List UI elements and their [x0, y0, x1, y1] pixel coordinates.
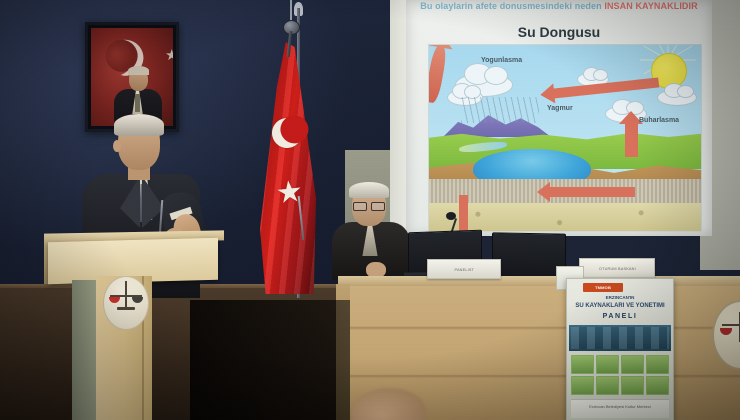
speaker-ear — [113, 140, 121, 152]
nameplate-right: OTURUM BASKANI — [579, 258, 655, 278]
eyeglasses-icon — [353, 202, 385, 209]
cloud-icon — [657, 89, 697, 106]
ceiling-microphone-wire — [290, 0, 292, 22]
poster-sponsor-tile — [621, 376, 644, 395]
arrow-precipitation — [428, 44, 448, 104]
speaker-hair — [114, 114, 164, 136]
nameplate-left-text: PANELIST — [454, 267, 474, 272]
panelist-hair — [349, 182, 389, 198]
label-condensation: Yogunlasma — [481, 57, 522, 64]
scales-pan-left — [720, 328, 732, 335]
poster-logo-text: TMMOB — [595, 285, 611, 290]
poster-line-2: SU KAYNAKLARI VE YONETIMI — [567, 303, 673, 309]
event-poster: TMMOB ERZINCAN'IN SU KAYNAKLARI VE YONET… — [566, 278, 674, 420]
poster-sponsor-tile — [571, 355, 594, 374]
portrait-hair — [128, 66, 149, 75]
scales-beam — [722, 324, 740, 326]
poster-sponsor-tile — [646, 355, 669, 374]
podium-column-side — [72, 280, 98, 420]
label-precipitation: Yagmur — [547, 105, 573, 112]
slide-title: Su Dongusu — [406, 24, 712, 40]
slide-header: Bu olaylarin afete donusmesindeki neden … — [406, 1, 712, 11]
projection-screen: Bu olaylarin afete donusmesindeki neden … — [406, 0, 712, 236]
portrait-tie — [135, 94, 140, 112]
nameplate-left: PANELIST — [427, 259, 501, 279]
poster-logo-badge: TMMOB — [583, 283, 623, 292]
poster-line-1: ERZINCAN'IN — [567, 295, 673, 300]
poster-sponsor-tile — [646, 376, 669, 395]
rainfall-icon — [461, 97, 539, 123]
ataturk-portrait-canvas: ★ — [91, 28, 173, 126]
nameplate-right-text: OTURUM BASKANI — [599, 266, 636, 271]
arrow-infiltration — [459, 195, 468, 231]
scales-pan-right — [132, 297, 143, 303]
stage-shadow — [190, 300, 350, 420]
justice-scales-emblem-podium — [103, 276, 149, 330]
poster-footer-bar: Erzincan Belediyesi Kultur Merkezi — [571, 399, 669, 418]
laptop-screen-right — [492, 232, 566, 277]
poster-footer-text: Erzincan Belediyesi Kultur Merkezi — [571, 404, 669, 409]
slide-header-plain: Bu olaylarin afete donusmesindeki neden — [420, 1, 601, 11]
poster-image-strip — [569, 325, 671, 351]
poster-sponsor-tile — [596, 355, 619, 374]
slide-header-highlight: INSAN KAYNAKLIDIR — [604, 1, 697, 11]
water-cycle-diagram: Yogunlasma Yagmur Buharlasma — [428, 44, 702, 232]
scales-pan-left — [109, 297, 120, 303]
arrow-groundwater-flow — [549, 187, 635, 197]
poster-line-3: PANELI — [567, 313, 673, 320]
seated-panelist — [330, 182, 414, 280]
poster-sponsor-grid — [571, 355, 669, 395]
scales-base — [117, 307, 135, 310]
arrow-evaporation — [625, 123, 638, 157]
label-evaporation: Buharlasma — [639, 117, 679, 124]
aquifer-layer — [429, 203, 701, 231]
poster-sponsor-tile — [621, 355, 644, 374]
poster-sponsor-tile — [596, 376, 619, 395]
poster-sponsor-tile — [571, 376, 594, 395]
photo-stage: ★ ★ Bu olaylarin afete donusmesindeki ne… — [0, 0, 740, 420]
